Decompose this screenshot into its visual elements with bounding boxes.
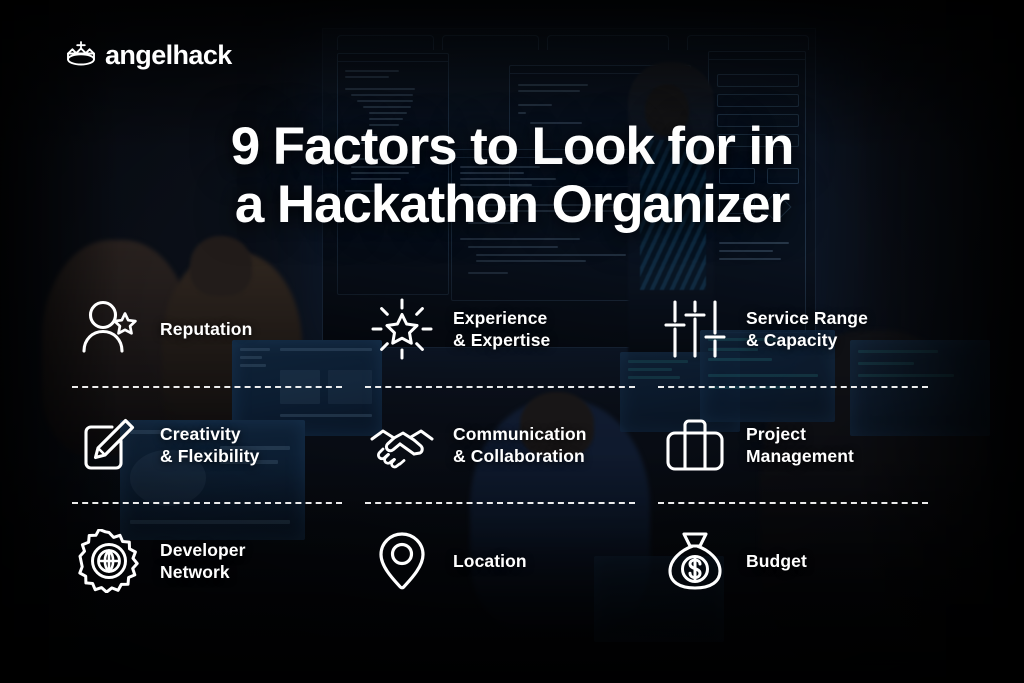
- page-title: 9 Factors to Look for in a Hackathon Org…: [0, 118, 1024, 234]
- factor-label-line-1: Service Range: [746, 308, 868, 328]
- factor-label-line-2: & Capacity: [746, 330, 837, 350]
- user-star-icon: [72, 292, 146, 366]
- title-line-1: 9 Factors to Look for in: [231, 117, 794, 176]
- divider-cell: [72, 496, 365, 510]
- dashed-divider: [72, 502, 342, 504]
- handshake-icon: [365, 408, 439, 482]
- infographic-poster: angelhack 9 Factors to Look for in a Hac…: [0, 0, 1024, 683]
- divider-row: [72, 380, 952, 394]
- divider-cell: [365, 380, 658, 394]
- factor-label-line-2: & Flexibility: [160, 446, 260, 466]
- title-line-2: a Hackathon Organizer: [0, 176, 1024, 234]
- money-bag-icon: [658, 524, 732, 598]
- factor-item-service-range[interactable]: Service Range & Capacity: [658, 278, 951, 380]
- factor-label: Reputation: [160, 318, 252, 340]
- sliders-icon: [658, 292, 732, 366]
- factor-label: Project Management: [746, 423, 854, 468]
- edit-pencil-square-icon: [72, 408, 146, 482]
- factor-item-reputation[interactable]: Reputation: [72, 278, 365, 380]
- factor-item-budget[interactable]: Budget: [658, 510, 951, 612]
- factor-label-line-1: Reputation: [160, 319, 252, 339]
- factors-row: Creativity & Flexibility: [72, 394, 952, 496]
- dashed-divider: [365, 386, 635, 388]
- poster-content: angelhack 9 Factors to Look for in a Hac…: [0, 0, 1024, 683]
- factor-label: Creativity & Flexibility: [160, 423, 260, 468]
- factor-label: Budget: [746, 550, 807, 572]
- brand-name: angelhack: [105, 42, 232, 69]
- factor-label: Service Range & Capacity: [746, 307, 868, 352]
- factor-label: Experience & Expertise: [453, 307, 550, 352]
- factors-grid: Reputation: [72, 278, 952, 612]
- gear-globe-icon: [72, 524, 146, 598]
- divider-cell: [658, 380, 951, 394]
- factor-item-communication[interactable]: Communication & Collaboration: [365, 394, 658, 496]
- factors-row: Developer Network Location: [72, 510, 952, 612]
- divider-cell: [72, 380, 365, 394]
- factor-label: Communication & Collaboration: [453, 423, 587, 468]
- divider-row: [72, 496, 952, 510]
- brand-logo: angelhack: [64, 40, 232, 70]
- dashed-divider: [72, 386, 342, 388]
- factor-label-line-1: Location: [453, 551, 527, 571]
- factor-label-line-1: Budget: [746, 551, 807, 571]
- factors-row: Reputation: [72, 278, 952, 380]
- dashed-divider: [658, 386, 928, 388]
- factor-label-line-1: Experience: [453, 308, 547, 328]
- factor-label-line-1: Project: [746, 424, 806, 444]
- factor-item-experience[interactable]: Experience & Expertise: [365, 278, 658, 380]
- map-pin-icon: [365, 524, 439, 598]
- factor-label-line-2: & Expertise: [453, 330, 550, 350]
- divider-cell: [658, 496, 951, 510]
- factor-label-line-2: & Collaboration: [453, 446, 585, 466]
- factor-item-project-management[interactable]: Project Management: [658, 394, 951, 496]
- factor-label: Location: [453, 550, 527, 572]
- sparkling-star-icon: [365, 292, 439, 366]
- factor-label-line-1: Creativity: [160, 424, 241, 444]
- crown-icon: [64, 40, 98, 70]
- factor-item-creativity[interactable]: Creativity & Flexibility: [72, 394, 365, 496]
- factor-item-location[interactable]: Location: [365, 510, 658, 612]
- factor-label: Developer Network: [160, 539, 246, 584]
- factor-item-developer-network[interactable]: Developer Network: [72, 510, 365, 612]
- briefcase-icon: [658, 408, 732, 482]
- dashed-divider: [365, 502, 635, 504]
- divider-cell: [365, 496, 658, 510]
- factor-label-line-1: Developer: [160, 540, 246, 560]
- factor-label-line-2: Management: [746, 446, 854, 466]
- factor-label-line-1: Communication: [453, 424, 587, 444]
- dashed-divider: [658, 502, 928, 504]
- factor-label-line-2: Network: [160, 562, 230, 582]
